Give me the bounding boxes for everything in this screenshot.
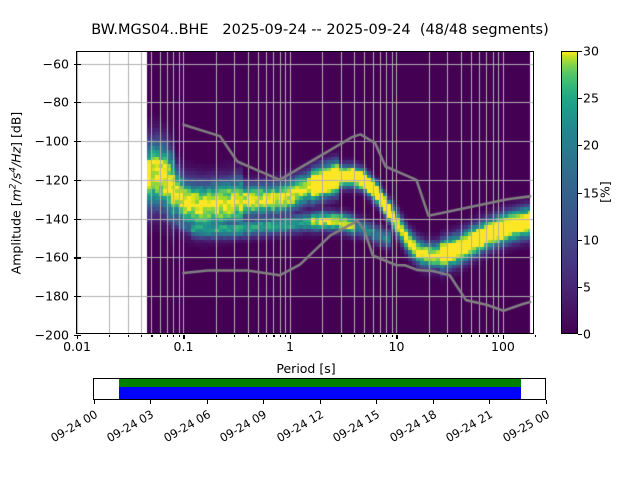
colorbar-tick-label: 10 [583,232,599,247]
y-axis-sup-4: 4 [8,167,18,173]
y-axis-label: Amplitude [m2/s4/Hz] [dB] [8,112,23,275]
timeline-tick-label: 09-24 06 [157,407,212,447]
x-minor-tick [447,335,448,337]
x-minor-tick [386,335,387,337]
data-availability-bar [119,387,521,399]
x-tick-mark [396,335,397,339]
x-tick-mark [183,335,184,339]
x-minor-tick [141,335,142,337]
y-tick-mark [77,64,81,65]
x-minor-tick [109,335,110,337]
colorbar-tick-mark [578,193,582,194]
y-axis-unit-m: m [9,189,24,201]
x-minor-tick [429,335,430,337]
x-minor-tick [167,335,168,337]
y-tick-mark [77,219,81,220]
x-minor-tick [498,335,499,337]
x-minor-tick [248,335,249,337]
timeline-tick-mark [263,400,264,404]
x-minor-tick [341,335,342,337]
timeline-axes [93,378,546,400]
y-tick-mark [77,180,81,181]
colorbar-tick-mark [578,51,582,52]
x-minor-tick [461,335,462,337]
timeline-tick-label: 09-24 00 [44,407,99,447]
y-tick-label: −100 [35,134,69,149]
x-minor-tick [128,335,129,337]
timeline-tick-mark [150,400,151,404]
x-tick-label: 100 [491,339,515,354]
timeline-tick-label: 09-24 18 [383,407,438,447]
y-tick-label: −160 [35,250,69,265]
x-minor-tick [471,335,472,337]
y-tick-mark [77,296,81,297]
colorbar-tick-mark [578,145,582,146]
y-axis-label-text: Amplitude [ [9,201,24,274]
timeline-tick-mark [489,400,490,404]
colorbar-tick-mark [578,334,582,335]
colorbar-tick-mark [578,240,582,241]
x-minor-tick [479,335,480,337]
y-tick-label: −180 [35,289,69,304]
noise-model-curves [77,52,533,333]
x-minor-tick [280,335,281,337]
y-tick-label: −60 [43,56,69,71]
psd-segments-bar [119,379,521,387]
timeline-tick-label: 09-24 21 [440,407,495,447]
x-minor-tick [322,335,323,337]
x-minor-tick [234,335,235,337]
x-tick-label: 0.01 [63,339,91,354]
colorbar-tick-label: 5 [583,279,591,294]
timeline-tick-mark [320,400,321,404]
x-tick-label: 10 [389,339,405,354]
x-minor-tick [373,335,374,337]
y-axis-unit-hz: /Hz [9,147,24,167]
y-tick-mark [77,141,81,142]
timeline-tick-mark [94,400,95,404]
x-minor-tick [258,335,259,337]
x-minor-tick [354,335,355,337]
colorbar-tick-label: 20 [583,138,599,153]
timeline-tick-mark [433,400,434,404]
y-axis-sup-2: 2 [8,183,18,189]
timeline-tick-mark [546,400,547,404]
x-tick-mark [503,335,504,339]
y-tick-label: −140 [35,211,69,226]
x-tick-label: 0.1 [174,339,194,354]
x-minor-tick [380,335,381,337]
page-title: BW.MGS04..BHE 2025-09-24 -- 2025-09-24 (… [0,22,640,38]
y-tick-label: −80 [43,95,69,110]
x-minor-tick [493,335,494,337]
timeline-tick-label: 09-25 00 [496,407,551,447]
x-tick-mark [290,335,291,339]
plot-clip-region [77,52,533,333]
x-axis-label: Period [s] [276,361,335,376]
x-tick-mark [77,335,78,339]
x-minor-tick [285,335,286,337]
colorbar-tick-mark [578,98,582,99]
timeline-tick-label: 09-24 09 [214,407,269,447]
x-minor-tick [266,335,267,337]
timeline-tick-mark [207,400,208,404]
x-tick-label: 1 [286,339,294,354]
x-minor-tick [486,335,487,337]
x-minor-tick [160,335,161,337]
colorbar-tick-mark [578,287,582,288]
x-minor-tick [535,335,536,337]
timeline-tick-mark [376,400,377,404]
ppsd-figure: BW.MGS04..BHE 2025-09-24 -- 2025-09-24 (… [0,0,640,480]
y-tick-mark [77,102,81,103]
timeline-tick-label: 09-24 12 [270,407,325,447]
colorbar-label: [%] [598,181,613,203]
timeline-tick-label: 09-24 15 [327,407,382,447]
ppsd-plot-axes: −200−180−160−140−120−100−80−60 0.010.111… [76,51,534,334]
y-tick-mark [77,257,81,258]
y-tick-label: −120 [35,172,69,187]
x-minor-tick [151,335,152,337]
x-minor-tick [392,335,393,337]
x-minor-tick [216,335,217,337]
x-minor-tick [364,335,365,337]
colorbar-tick-label: 0 [583,327,591,342]
colorbar [561,51,578,334]
colorbar-tick-label: 25 [583,91,599,106]
timeline-tick-label: 09-24 03 [101,407,156,447]
y-axis-label-tail: ] [dB] [9,112,24,147]
x-minor-tick [173,335,174,337]
x-minor-tick [273,335,274,337]
colorbar-tick-label: 30 [583,44,599,59]
x-minor-tick [179,335,180,337]
y-axis-unit-s: /s [9,173,24,184]
